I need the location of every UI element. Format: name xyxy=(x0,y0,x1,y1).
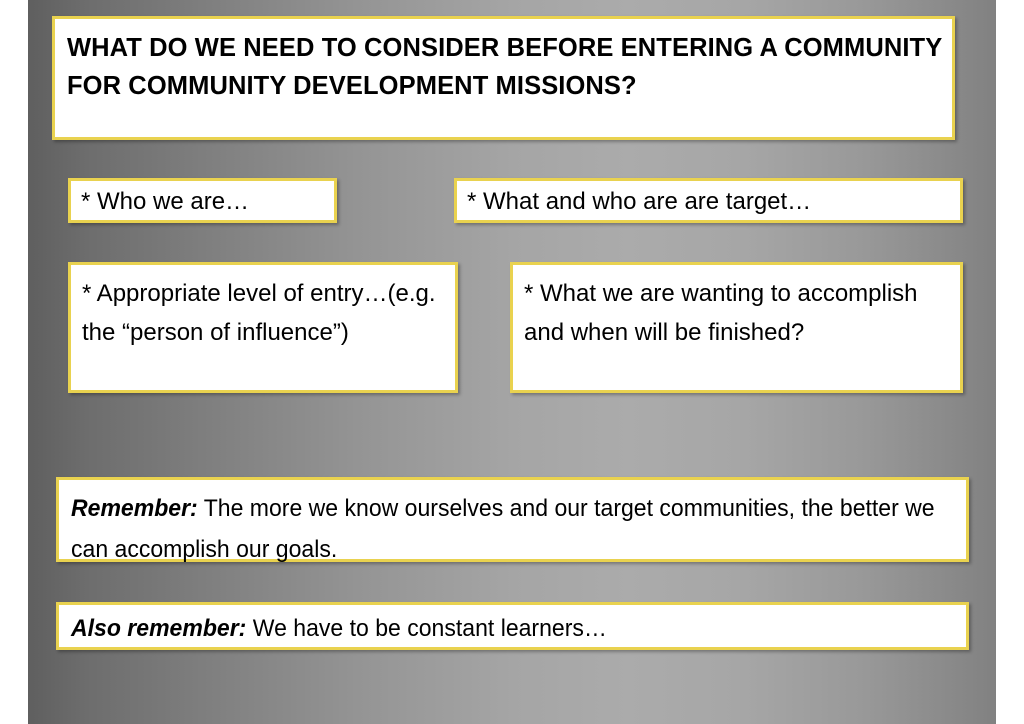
reminder-body-remember: The more we know ourselves and our targe… xyxy=(71,495,941,563)
reminder-body-also-remember: We have to be constant learners… xyxy=(246,615,607,642)
consideration-text-target: * What and who are are target… xyxy=(467,187,960,217)
reminder-text-remember: Remember: The more we know ourselves and… xyxy=(71,488,963,570)
consideration-text-who-we-are: * Who we are… xyxy=(81,187,334,217)
consideration-text-entry-level: * Appropriate level of entry…(e.g. the “… xyxy=(82,274,455,352)
consideration-box-target: * What and who are are target… xyxy=(454,178,963,223)
reminder-lead-remember: Remember: xyxy=(71,495,198,522)
consideration-box-who-we-are: * Who we are… xyxy=(68,178,337,223)
reminder-box-also-remember: Also remember: We have to be constant le… xyxy=(56,602,969,650)
consideration-box-entry-level: * Appropriate level of entry…(e.g. the “… xyxy=(68,262,458,393)
page-title: WHAT DO WE NEED TO CONSIDER BEFORE ENTER… xyxy=(67,29,952,105)
slide-title-box: WHAT DO WE NEED TO CONSIDER BEFORE ENTER… xyxy=(52,16,955,140)
reminder-lead-also-remember: Also remember: xyxy=(71,615,246,642)
consideration-box-accomplish: * What we are wanting to accomplish and … xyxy=(510,262,963,393)
reminder-box-remember: Remember: The more we know ourselves and… xyxy=(56,477,969,562)
reminder-text-also-remember: Also remember: We have to be constant le… xyxy=(71,611,963,647)
slide-canvas: WHAT DO WE NEED TO CONSIDER BEFORE ENTER… xyxy=(28,0,996,724)
consideration-text-accomplish: * What we are wanting to accomplish and … xyxy=(524,274,960,352)
